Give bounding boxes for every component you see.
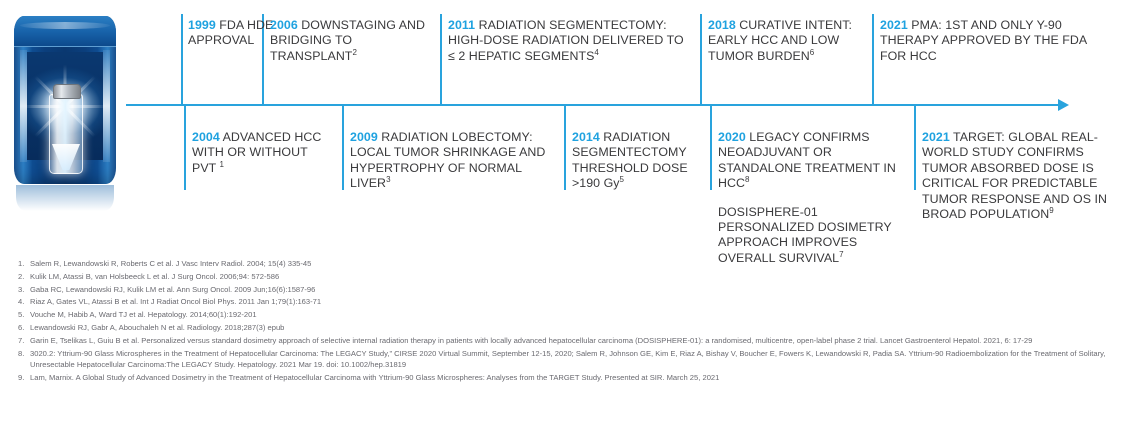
entry-paragraph: 2011 RADIATION SEGMENTECTOMY: HIGH-DOSE …: [448, 18, 690, 64]
shield-highlight-right: [103, 50, 110, 162]
reference-text: 3020.2: Yttrium-90 Glass Microspheres in…: [30, 348, 1108, 370]
event-year: 2011: [448, 18, 475, 32]
reference-number: 4.: [18, 296, 30, 307]
shield-window: [27, 52, 103, 160]
timeline-event-top-2011-2: 2011 RADIATION SEGMENTECTOMY: HIGH-DOSE …: [448, 18, 690, 64]
timeline-event-top-2021-4: 2021 PMA: 1ST AND ONLY Y-90 THERAPY APPR…: [880, 18, 1088, 64]
event-year: 2021: [922, 130, 950, 144]
reference-number: 5.: [18, 309, 30, 320]
entry-paragraph: 1999 FDA HDE APPROVAL: [188, 18, 276, 49]
reference-text: Garin E, Tselikas L, Guiu B et al. Perso…: [30, 335, 1108, 346]
event-year: 2004: [192, 130, 220, 144]
footnote-marker: 8: [745, 175, 750, 184]
entry-paragraph: 2004 ADVANCED HCC WITH OR WITHOUT PVT 1: [192, 130, 322, 176]
reference-text: Riaz A, Gates VL, Atassi B et al. Int J …: [30, 296, 1108, 307]
timeline-event-top-2006-1: 2006 DOWNSTAGING AND BRIDGING TO TRANSPL…: [270, 18, 430, 64]
entry-paragraph: 2014 RADIATION SEGMENTECTOMY THRESHOLD D…: [572, 130, 698, 192]
reference-item: 8.3020.2: Yttrium-90 Glass Microspheres …: [18, 348, 1108, 370]
timeline-axis-line: [126, 104, 1064, 106]
vial-cap: [53, 84, 81, 99]
reference-number: 2.: [18, 271, 30, 282]
glass-vial: [49, 94, 83, 174]
event-year: 2018: [708, 18, 736, 32]
shield-reflection: [16, 185, 114, 211]
timeline-tick-1999: [181, 14, 183, 105]
reference-text: Kulik LM, Atassi B, van Holsbeeck L et a…: [30, 271, 1108, 282]
references-list: 1.Salem R, Lewandowski R, Roberts C et a…: [18, 258, 1108, 384]
timeline-event-bottom-2014-2: 2014 RADIATION SEGMENTECTOMY THRESHOLD D…: [572, 130, 698, 192]
reference-number: 9.: [18, 372, 30, 383]
footnote-marker: 9: [1049, 206, 1054, 215]
timeline-tick-2004: [184, 106, 186, 190]
timeline-event-top-1999-0: 1999 FDA HDE APPROVAL: [188, 18, 276, 49]
footnote-marker: 4: [594, 48, 599, 57]
reference-item: 2.Kulik LM, Atassi B, van Holsbeeck L et…: [18, 271, 1108, 282]
timeline-tick-2021: [914, 106, 916, 190]
reference-item: 6.Lewandowski RJ, Gabr A, Abouchaleh N e…: [18, 322, 1108, 333]
event-year: 2006: [270, 18, 298, 32]
timeline-event-top-2018-3: 2018 CURATIVE INTENT: EARLY HCC AND LOW …: [708, 18, 880, 64]
reference-item: 4.Riaz A, Gates VL, Atassi B et al. Int …: [18, 296, 1108, 307]
radiation-shield-body: [14, 16, 116, 184]
event-year: 2021: [880, 18, 908, 32]
reference-number: 7.: [18, 335, 30, 346]
reference-text: Lam, Marnix. A Global Study of Advanced …: [30, 372, 1108, 383]
entry-paragraph: 2021 TARGET: GLOBAL REAL-WORLD STUDY CON…: [922, 130, 1112, 222]
entry-paragraph: 2009 RADIATION LOBECTOMY: LOCAL TUMOR SH…: [350, 130, 560, 192]
reference-text: Gaba RC, Lewandowski RJ, Kulik LM et al.…: [30, 284, 1108, 295]
reference-number: 1.: [18, 258, 30, 269]
reference-item: 1.Salem R, Lewandowski R, Roberts C et a…: [18, 258, 1108, 269]
timeline-event-bottom-2021-4: 2021 TARGET: GLOBAL REAL-WORLD STUDY CON…: [922, 130, 1112, 222]
entry-paragraph: 2018 CURATIVE INTENT: EARLY HCC AND LOW …: [708, 18, 880, 64]
timeline-tick-2011: [440, 14, 442, 105]
footnote-marker: 1: [220, 160, 225, 169]
event-year: 2014: [572, 130, 600, 144]
timeline-axis-arrow-icon: [1058, 99, 1069, 111]
reference-item: 5.Vouche M, Habib A, Ward TJ et al. Hepa…: [18, 309, 1108, 320]
product-vial-shield-image: [6, 6, 124, 211]
shield-highlight-left: [20, 50, 27, 162]
timeline-event-bottom-2020-3: 2020 LEGACY CONFIRMS NEOADJUVANT OR STAN…: [718, 130, 900, 266]
event-year: 2009: [350, 130, 378, 144]
timeline-event-bottom-2009-1: 2009 RADIATION LOBECTOMY: LOCAL TUMOR SH…: [350, 130, 560, 192]
timeline-tick-2020: [710, 106, 712, 190]
reference-text: Lewandowski RJ, Gabr A, Abouchaleh N et …: [30, 322, 1108, 333]
timeline-tick-2014: [564, 106, 566, 190]
timeline-event-bottom-2004-0: 2004 ADVANCED HCC WITH OR WITHOUT PVT 1: [192, 130, 322, 176]
reference-number: 8.: [18, 348, 30, 370]
reference-text: Salem R, Lewandowski R, Roberts C et al.…: [30, 258, 1108, 269]
reference-number: 6.: [18, 322, 30, 333]
vial-contents: [52, 144, 80, 170]
entry-paragraph: DOSISPHERE-01 PERSONALIZED DOSIMETRY APP…: [718, 205, 900, 267]
footnote-marker: 5: [620, 175, 625, 184]
entry-paragraph: 2021 PMA: 1ST AND ONLY Y-90 THERAPY APPR…: [880, 18, 1088, 64]
footnote-marker: 6: [810, 48, 815, 57]
timeline-tick-2018: [700, 14, 702, 105]
footnote-marker: 2: [352, 48, 357, 57]
reference-number: 3.: [18, 284, 30, 295]
reference-item: 7.Garin E, Tselikas L, Guiu B et al. Per…: [18, 335, 1108, 346]
footnote-marker: 3: [386, 175, 391, 184]
entry-paragraph: 2006 DOWNSTAGING AND BRIDGING TO TRANSPL…: [270, 18, 430, 64]
reference-text: Vouche M, Habib A, Ward TJ et al. Hepato…: [30, 309, 1108, 320]
timeline-tick-2009: [342, 106, 344, 190]
timeline-infographic: 1999 FDA HDE APPROVAL2006 DOWNSTAGING AN…: [0, 0, 1122, 422]
reference-item: 9.Lam, Marnix. A Global Study of Advance…: [18, 372, 1108, 383]
event-year: 1999: [188, 18, 216, 32]
reference-item: 3.Gaba RC, Lewandowski RJ, Kulik LM et a…: [18, 284, 1108, 295]
shield-lid: [14, 16, 116, 47]
entry-paragraph: 2020 LEGACY CONFIRMS NEOADJUVANT OR STAN…: [718, 130, 900, 192]
event-year: 2020: [718, 130, 746, 144]
